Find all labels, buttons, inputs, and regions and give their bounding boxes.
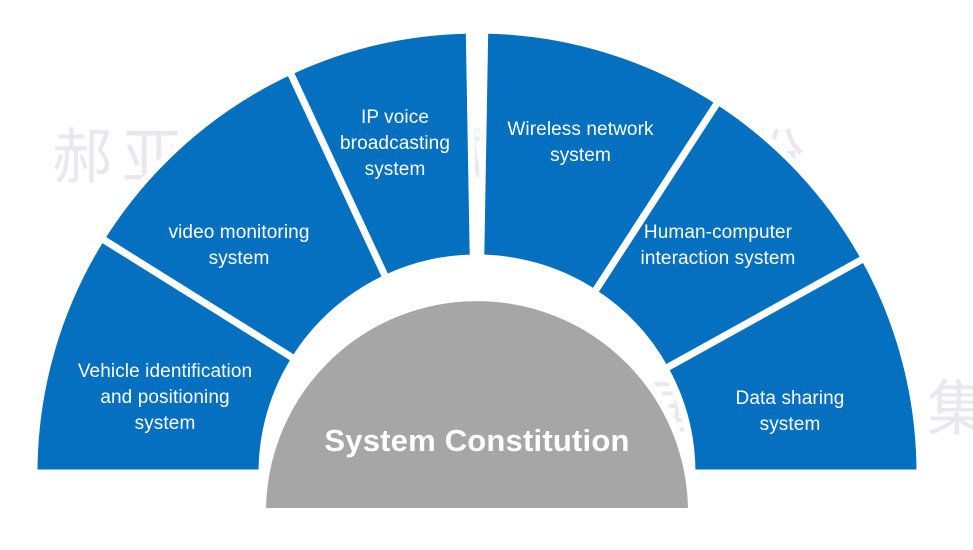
center-hub-label: System Constitution	[262, 423, 692, 459]
semicircle-radial-chart	[0, 0, 973, 550]
center-hub-shape[interactable]	[262, 297, 692, 512]
diagram-canvas: 郝亚鹏 国铁城轨集团(份 郝亚鹏 国铁城轨集团(份 Vehicle identi…	[0, 0, 973, 550]
center-hub	[262, 297, 692, 512]
